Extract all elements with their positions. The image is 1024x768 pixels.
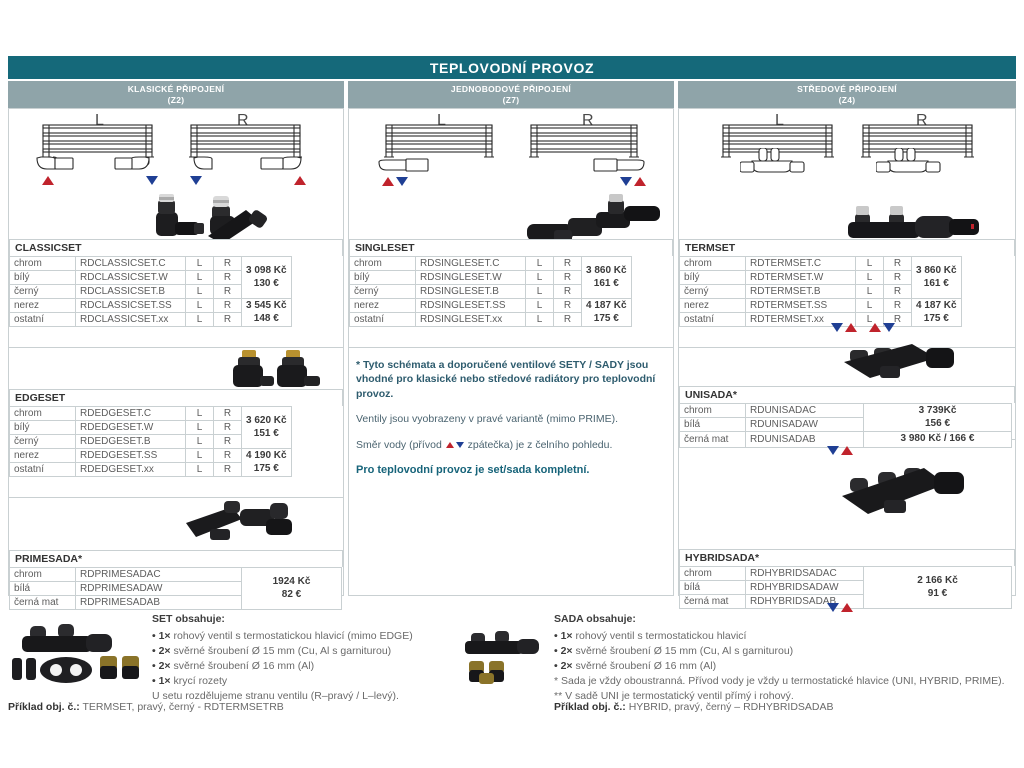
cell-code: RDTERMSET.SS	[746, 299, 856, 313]
valve-photo-hybridsada	[838, 462, 968, 520]
cell-color: černý	[350, 285, 416, 299]
cell-left: L	[186, 407, 214, 421]
cell-left: L	[186, 463, 214, 477]
example-set: Příklad obj. č.: TERMSET, pravý, černý -…	[8, 701, 284, 713]
cell-code: RDTERMSET.B	[746, 285, 856, 299]
cell-price-b: 4 190 Kč 175 €	[242, 449, 292, 477]
cell-left: L	[856, 271, 884, 285]
cell-code: RDCLASSICSET.B	[76, 285, 186, 299]
cell-right: R	[214, 285, 242, 299]
cell-right: R	[214, 463, 242, 477]
cell-code: RDEDGESET.B	[76, 435, 186, 449]
example-set-label: Příklad obj. č.:	[8, 701, 80, 713]
cell-price-a: 3 620 Kč 151 €	[242, 407, 292, 449]
cell-code: RDCLASSICSET.SS	[76, 299, 186, 313]
cell-left: L	[526, 257, 554, 271]
cell-right: R	[214, 421, 242, 435]
cell-left: L	[526, 299, 554, 313]
cell-left: L	[186, 421, 214, 435]
valve-outline-center-right	[876, 148, 952, 174]
column-header-single-code: (Z7)	[503, 95, 520, 106]
cell-left: L	[186, 271, 214, 285]
cell-price-b: 4 187 Kč 175 €	[582, 299, 632, 327]
valve-outline-classic-left	[33, 155, 163, 175]
table-row: nerez RDTERMSET.SS L R 4 187 Kč 175 €	[680, 299, 962, 313]
legend-sada-list: • 1× rohový ventil s termostatickou hlav…	[554, 629, 1014, 674]
cell-color: chrom	[350, 257, 416, 271]
cell-left: L	[856, 285, 884, 299]
cell-color: ostatní	[680, 313, 746, 327]
price-eur: 175 €	[594, 313, 619, 324]
note-line-2: Ventily jsou vyobrazeny v pravé variantě…	[356, 412, 666, 426]
table-singleset: chrom RDSINGLESET.C L R 3 860 Kč 161 € b…	[349, 256, 632, 327]
legend-qty: • 2×	[554, 660, 573, 672]
accessory-photo-set	[8, 614, 146, 686]
cell-price-b: 3 545 Kč 148 €	[242, 299, 292, 327]
cell-color: chrom	[680, 257, 746, 271]
cell-code: RDEDGESET.SS	[76, 449, 186, 463]
cell-color: bílý	[10, 271, 76, 285]
price-czk: 1924 Kč	[273, 576, 311, 587]
cell-price-a: 3 739Kč 156 €	[864, 404, 1012, 432]
example-sada-text: HYBRID, pravý, černý – RDHYBRIDSADAB	[626, 701, 834, 713]
legend-text: rohový ventil s termostatickou hlavicí	[573, 630, 747, 642]
table-title-classicset: CLASSICSET	[9, 239, 343, 256]
note-line-1-text: Tyto schémata a doporučené ventilové SET…	[356, 359, 655, 400]
cell-code: RDSINGLESET.xx	[416, 313, 526, 327]
cell-code: RDEDGESET.W	[76, 421, 186, 435]
valve-photo-edgeset	[230, 342, 335, 392]
return-arrow-single-right	[620, 177, 632, 186]
return-arrow-hybridsada	[827, 603, 839, 612]
table-row: chrom RDHYBRIDSADAC 2 166 Kč 91 €	[680, 567, 1012, 581]
price-eur: 161 €	[924, 278, 949, 289]
legend-sada-note-1: * Sada je vždy oboustranná. Přívod vody …	[554, 674, 1014, 689]
accessory-photo-sada	[455, 625, 545, 687]
cell-color: černý	[680, 285, 746, 299]
supply-arrow-termset-right	[869, 323, 881, 332]
cell-price-b: 4 187 Kč 175 €	[912, 299, 962, 327]
example-sada: Příklad obj. č.: HYBRID, pravý, černý – …	[554, 701, 834, 713]
cell-code: RDUNISADAW	[746, 418, 864, 432]
legend-text: rohový ventil s termostatickou hlavicí (…	[171, 630, 413, 642]
cell-right: R	[884, 299, 912, 313]
cell-color: bílá	[10, 582, 76, 596]
column-header-center-code: (Z4)	[839, 95, 856, 106]
table-title-hybridsada: HYBRIDSADA*	[679, 549, 1015, 566]
cell-right: R	[884, 271, 912, 285]
table-classicset: chrom RDCLASSICSET.C L R 3 098 Kč 130 € …	[9, 256, 292, 327]
legend-sada-item: • 1× rohový ventil s termostatickou hlav…	[554, 629, 1014, 644]
legend-text: svěrné šroubení Ø 15 mm (Cu, Al s garnit…	[573, 645, 794, 657]
example-sada-label: Příklad obj. č.:	[554, 701, 626, 713]
cell-price-a: 3 098 Kč 130 €	[242, 257, 292, 299]
legend-set-item: • 1× rohový ventil s termostatickou hlav…	[152, 629, 452, 644]
column-header-center-label: STŘEDOVÉ PŘIPOJENÍ	[797, 84, 897, 95]
table-row: nerez RDCLASSICSET.SS L R 3 545 Kč 148 €	[10, 299, 292, 313]
price-czk: 4 187 Kč	[586, 300, 627, 311]
cell-left: L	[186, 435, 214, 449]
legend-sada-item: • 2× svěrné šroubení Ø 15 mm (Cu, Al s g…	[554, 644, 1014, 659]
column-header-classic-code: (Z2)	[168, 95, 185, 106]
cell-code: RDPRIMESADAC	[76, 568, 242, 582]
cell-left: L	[186, 313, 214, 327]
cell-color: bílá	[680, 418, 746, 432]
note-line-4: Pro teplovodní provoz je set/sada komple…	[356, 463, 666, 478]
cell-right: R	[214, 257, 242, 271]
table-row: chrom RDSINGLESET.C L R 3 860 Kč 161 €	[350, 257, 632, 271]
cell-right: R	[214, 299, 242, 313]
legend-set-heading: SET obsahuje:	[152, 612, 452, 627]
table-row: nerez RDEDGESET.SS L R 4 190 Kč 175 €	[10, 449, 292, 463]
column-header-single: JEDNOBODOVÉ PŘIPOJENÍ (Z7)	[348, 81, 674, 108]
valve-photo-center	[845, 196, 985, 244]
cell-code: RDHYBRIDSADAW	[746, 581, 864, 595]
cell-code: RDSINGLESET.W	[416, 271, 526, 285]
return-arrow-termset-right	[883, 323, 895, 332]
cell-code: RDUNISADAC	[746, 404, 864, 418]
price-czk: 3 545 Kč	[246, 300, 287, 311]
cell-color: nerez	[10, 299, 76, 313]
cell-right: R	[554, 271, 582, 285]
price-eur: 130 €	[254, 278, 279, 289]
cell-color: bílý	[10, 421, 76, 435]
legend-text: svěrné šroubení Ø 16 mm (Al)	[171, 660, 315, 672]
legend-qty: • 2×	[554, 645, 573, 657]
legend-text: krycí rozety	[171, 675, 228, 687]
cell-price: 2 166 Kč 91 €	[864, 567, 1012, 609]
table-primesada: chrom RDPRIMESADAC 1924 Kč 82 € bílá RDP…	[9, 567, 342, 610]
supply-arrow-classic-right	[294, 176, 306, 185]
cell-left: L	[186, 257, 214, 271]
legend-set: SET obsahuje: • 1× rohový ventil s termo…	[152, 612, 452, 703]
price-eur: 161 €	[594, 278, 619, 289]
cell-code: RDEDGESET.xx	[76, 463, 186, 477]
cell-left: L	[526, 313, 554, 327]
example-set-text: TERMSET, pravý, černý - RDTERMSETRB	[80, 701, 284, 713]
legend-qty: • 1×	[152, 675, 171, 687]
supply-arrow-icon	[446, 442, 454, 448]
cell-right: R	[884, 285, 912, 299]
legend-qty: • 2×	[152, 645, 171, 657]
price-czk: 4 190 Kč	[246, 450, 287, 461]
price-eur: 91 €	[928, 588, 947, 599]
cell-color: bílý	[680, 271, 746, 285]
cell-left: L	[186, 285, 214, 299]
column-header-classic: KLASICKÉ PŘIPOJENÍ (Z2)	[8, 81, 344, 108]
cell-code: RDSINGLESET.C	[416, 257, 526, 271]
table-termset: chrom RDTERMSET.C L R 3 860 Kč 161 € bíl…	[679, 256, 962, 327]
cell-color: chrom	[10, 568, 76, 582]
return-arrow-single-left	[396, 177, 408, 186]
price-eur: 156 €	[925, 418, 950, 429]
legend-qty: • 1×	[554, 630, 573, 642]
cell-price: 1924 Kč 82 €	[242, 568, 342, 610]
price-czk: 2 166 Kč	[917, 575, 958, 586]
cell-right: R	[214, 449, 242, 463]
legend-set-list: • 1× rohový ventil s termostatickou hlav…	[152, 629, 452, 689]
table-row: chrom RDTERMSET.C L R 3 860 Kč 161 €	[680, 257, 962, 271]
cell-code: RDSINGLESET.SS	[416, 299, 526, 313]
valve-outline-single-right	[565, 156, 647, 176]
valve-outline-center-left	[740, 148, 816, 174]
note-line-3-b: zpátečka) je z čelního pohledu.	[465, 439, 613, 451]
cell-left: L	[856, 299, 884, 313]
cell-code: RDPRIMESADAW	[76, 582, 242, 596]
cell-color: chrom	[680, 567, 746, 581]
cell-color: bílá	[680, 581, 746, 595]
legend-sada-heading: SADA obsahuje:	[554, 612, 1014, 627]
column-header-center: STŘEDOVÉ PŘIPOJENÍ (Z4)	[678, 81, 1016, 108]
note-line-3: Směr vody (přívod zpátečka) je z čelního…	[356, 438, 666, 452]
cell-code: RDEDGESET.C	[76, 407, 186, 421]
valve-outline-single-left	[376, 156, 456, 176]
cell-price-a: 3 860 Kč 161 €	[582, 257, 632, 299]
supply-arrow-classic-left	[42, 176, 54, 185]
price-czk: 3 860 Kč	[586, 265, 627, 276]
cell-left: L	[186, 449, 214, 463]
cell-right: R	[214, 435, 242, 449]
cell-code: RDCLASSICSET.C	[76, 257, 186, 271]
notes-block: * Tyto schémata a doporučené ventilové S…	[356, 358, 666, 479]
cell-left: L	[526, 285, 554, 299]
table-row: chrom RDEDGESET.C L R 3 620 Kč 151 €	[10, 407, 292, 421]
price-czk: 3 739Kč	[919, 405, 957, 416]
price-czk: 3 098 Kč	[246, 265, 287, 276]
table-title-edgeset: EDGESET	[9, 389, 343, 406]
price-eur: 175 €	[924, 313, 949, 324]
legend-set-item: • 2× svěrné šroubení Ø 15 mm (Cu, Al s g…	[152, 644, 452, 659]
cell-right: R	[554, 257, 582, 271]
cell-right: R	[554, 313, 582, 327]
cell-left: L	[526, 271, 554, 285]
supply-arrow-hybridsada	[841, 603, 853, 612]
cell-color: černý	[10, 435, 76, 449]
legend-sada: SADA obsahuje: • 1× rohový ventil s term…	[554, 612, 1014, 703]
table-unisada: chrom RDUNISADAC 3 739Kč 156 € bílá RDUN…	[679, 403, 1012, 448]
valve-photo-unisada	[840, 336, 960, 382]
table-row: chrom RDUNISADAC 3 739Kč 156 €	[680, 404, 1012, 418]
table-row: nerez RDSINGLESET.SS L R 4 187 Kč 175 €	[350, 299, 632, 313]
cell-color: chrom	[10, 257, 76, 271]
cell-color: černá mat	[680, 595, 746, 609]
cell-right: R	[554, 299, 582, 313]
cell-left: L	[186, 299, 214, 313]
cell-color: chrom	[680, 404, 746, 418]
note-line-3-a: Směr vody (přívod	[356, 439, 445, 451]
valve-photo-classic	[150, 192, 280, 244]
cell-code: RDHYBRIDSADAC	[746, 567, 864, 581]
cell-right: R	[214, 271, 242, 285]
price-eur: 175 €	[254, 463, 279, 474]
cell-right: R	[554, 285, 582, 299]
cell-price-a: 3 860 Kč 161 €	[912, 257, 962, 299]
return-arrow-termset-left	[831, 323, 843, 332]
table-title-unisada: UNISADA*	[679, 386, 1015, 403]
legend-set-item: • 1× krycí rozety	[152, 674, 452, 689]
cell-code: RDPRIMESADAB	[76, 596, 242, 610]
column-header-classic-label: KLASICKÉ PŘIPOJENÍ	[128, 84, 225, 95]
note-line-1: * Tyto schémata a doporučené ventilové S…	[356, 358, 666, 401]
table-row: chrom RDCLASSICSET.C L R 3 098 Kč 130 €	[10, 257, 292, 271]
valve-photo-primesada	[180, 495, 300, 543]
legend-text: svěrné šroubení Ø 16 mm (Al)	[573, 660, 717, 672]
price-czk: 4 187 Kč	[916, 300, 957, 311]
table-row: černá mat RDUNISADAB 3 980 Kč / 166 €	[680, 432, 1012, 448]
cell-color: ostatní	[350, 313, 416, 327]
page-title: TEPLOVODNÍ PROVOZ	[8, 56, 1016, 79]
price-czk: 3 620 Kč	[246, 415, 287, 426]
cell-code: RDCLASSICSET.xx	[76, 313, 186, 327]
legend-qty: • 2×	[152, 660, 171, 672]
cell-color: černá mat	[10, 596, 76, 610]
return-arrow-icon	[456, 442, 464, 448]
table-edgeset: chrom RDEDGESET.C L R 3 620 Kč 151 € bíl…	[9, 406, 292, 477]
supply-arrow-unisada	[841, 446, 853, 455]
cell-code: RDUNISADAB	[746, 432, 864, 448]
cell-color: nerez	[680, 299, 746, 313]
cell-color: nerez	[350, 299, 416, 313]
cell-code: RDCLASSICSET.W	[76, 271, 186, 285]
supply-arrow-single-right	[634, 177, 646, 186]
table-title-termset: TERMSET	[679, 239, 1015, 256]
cell-left: L	[856, 257, 884, 271]
return-arrow-classic-right	[190, 176, 202, 185]
price-eur: 148 €	[254, 313, 279, 324]
cell-color: chrom	[10, 407, 76, 421]
table-row: chrom RDPRIMESADAC 1924 Kč 82 €	[10, 568, 342, 582]
valve-outline-classic-right	[181, 155, 313, 175]
cell-color: bílý	[350, 271, 416, 285]
cell-color: černý	[10, 285, 76, 299]
cell-color: ostatní	[10, 463, 76, 477]
table-title-singleset: SINGLESET	[349, 239, 673, 256]
cell-right: R	[214, 407, 242, 421]
supply-arrow-termset-left	[845, 323, 857, 332]
cell-color: černá mat	[680, 432, 746, 448]
table-title-primesada: PRIMESADA*	[9, 550, 343, 567]
supply-arrow-single-left	[382, 177, 394, 186]
cell-price-b: 3 980 Kč / 166 €	[864, 432, 1012, 448]
legend-sada-item: • 2× svěrné šroubení Ø 16 mm (Al)	[554, 659, 1014, 674]
cell-right: R	[884, 257, 912, 271]
price-eur: 151 €	[254, 428, 279, 439]
column-header-single-label: JEDNOBODOVÉ PŘIPOJENÍ	[451, 84, 571, 95]
return-arrow-unisada	[827, 446, 839, 455]
cell-code: RDSINGLESET.B	[416, 285, 526, 299]
price-eur: 82 €	[282, 589, 301, 600]
cell-color: nerez	[10, 449, 76, 463]
catalog-page: TEPLOVODNÍ PROVOZ KLASICKÉ PŘIPOJENÍ (Z2…	[0, 0, 1024, 768]
cell-code: RDTERMSET.W	[746, 271, 856, 285]
price-czk: 3 860 Kč	[916, 265, 957, 276]
legend-qty: • 1×	[152, 630, 171, 642]
cell-code: RDTERMSET.C	[746, 257, 856, 271]
return-arrow-classic-left	[146, 176, 158, 185]
cell-right: R	[214, 313, 242, 327]
legend-set-item: • 2× svěrné šroubení Ø 16 mm (Al)	[152, 659, 452, 674]
cell-color: ostatní	[10, 313, 76, 327]
legend-text: svěrné šroubení Ø 15 mm (Cu, Al s garnit…	[171, 645, 392, 657]
